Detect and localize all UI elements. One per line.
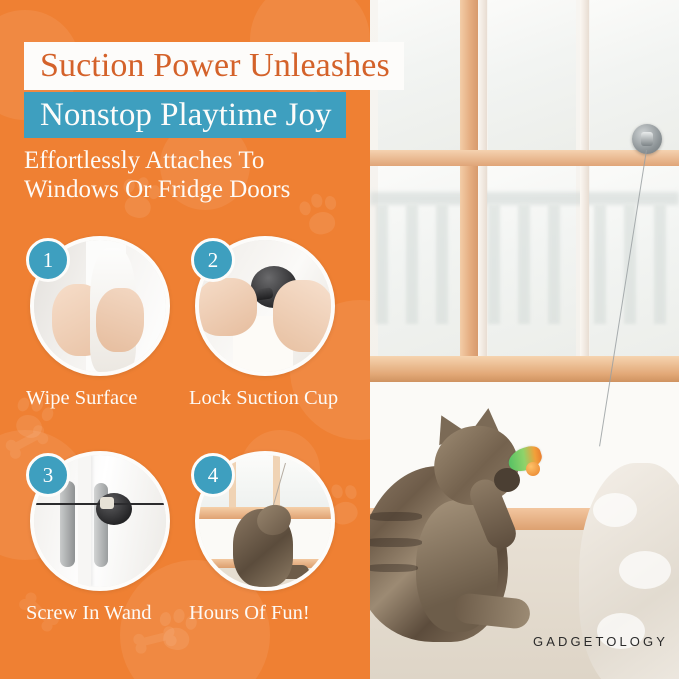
step-4-caption: Hours Of Fun! <box>187 602 352 625</box>
window-rail <box>370 150 679 166</box>
cat-illustration <box>370 392 538 642</box>
headline-line-1-text: Suction Power Unleashes <box>40 49 390 83</box>
step-1-badge: 1 <box>26 238 70 282</box>
step-4: 4 Hours Of Fun! <box>187 451 352 625</box>
steps-row-bottom: 3 Screw In Wand 4 Hours Of Fun! <box>0 451 370 666</box>
step-4-badge: 4 <box>191 453 235 497</box>
steps-grid: 1 Wipe Surface 2 Lock Suction Cup <box>0 236 370 666</box>
window-pane <box>590 0 679 150</box>
subheading: Effortlessly Attaches To Windows Or Frid… <box>24 146 354 204</box>
product-photo <box>370 0 679 679</box>
step-3: 3 Screw In Wand <box>22 451 187 625</box>
window-pane <box>488 0 576 150</box>
window-sill <box>370 356 679 382</box>
step-1: 1 Wipe Surface <box>22 236 187 410</box>
steps-row-top: 1 Wipe Surface 2 Lock Suction Cup <box>0 236 370 451</box>
step-3-badge: 3 <box>26 453 70 497</box>
step-2-badge: 2 <box>191 238 235 282</box>
step-1-caption: Wipe Surface <box>22 387 187 410</box>
product-infographic: Suction Power Unleashes Nonstop Playtime… <box>0 0 679 679</box>
window-mullion <box>460 0 478 382</box>
brand-logo: GADGETOLOGY <box>533 634 668 649</box>
toy-ball-icon <box>526 462 540 476</box>
step-2-caption: Lock Suction Cup <box>187 387 352 410</box>
window-area <box>370 0 679 382</box>
window-muntin <box>580 0 589 382</box>
headline-line-1: Suction Power Unleashes <box>24 42 404 90</box>
headline-line-2-text: Nonstop Playtime Joy <box>40 99 332 132</box>
step-2: 2 Lock Suction Cup <box>187 236 352 410</box>
deck-railing <box>370 186 679 326</box>
subheading-line-1: Effortlessly Attaches To <box>24 146 354 175</box>
step-3-caption: Screw In Wand <box>22 602 187 625</box>
window-muntin <box>478 0 487 382</box>
headline-line-2: Nonstop Playtime Joy <box>24 92 346 138</box>
subheading-line-2: Windows Or Fridge Doors <box>24 175 354 204</box>
